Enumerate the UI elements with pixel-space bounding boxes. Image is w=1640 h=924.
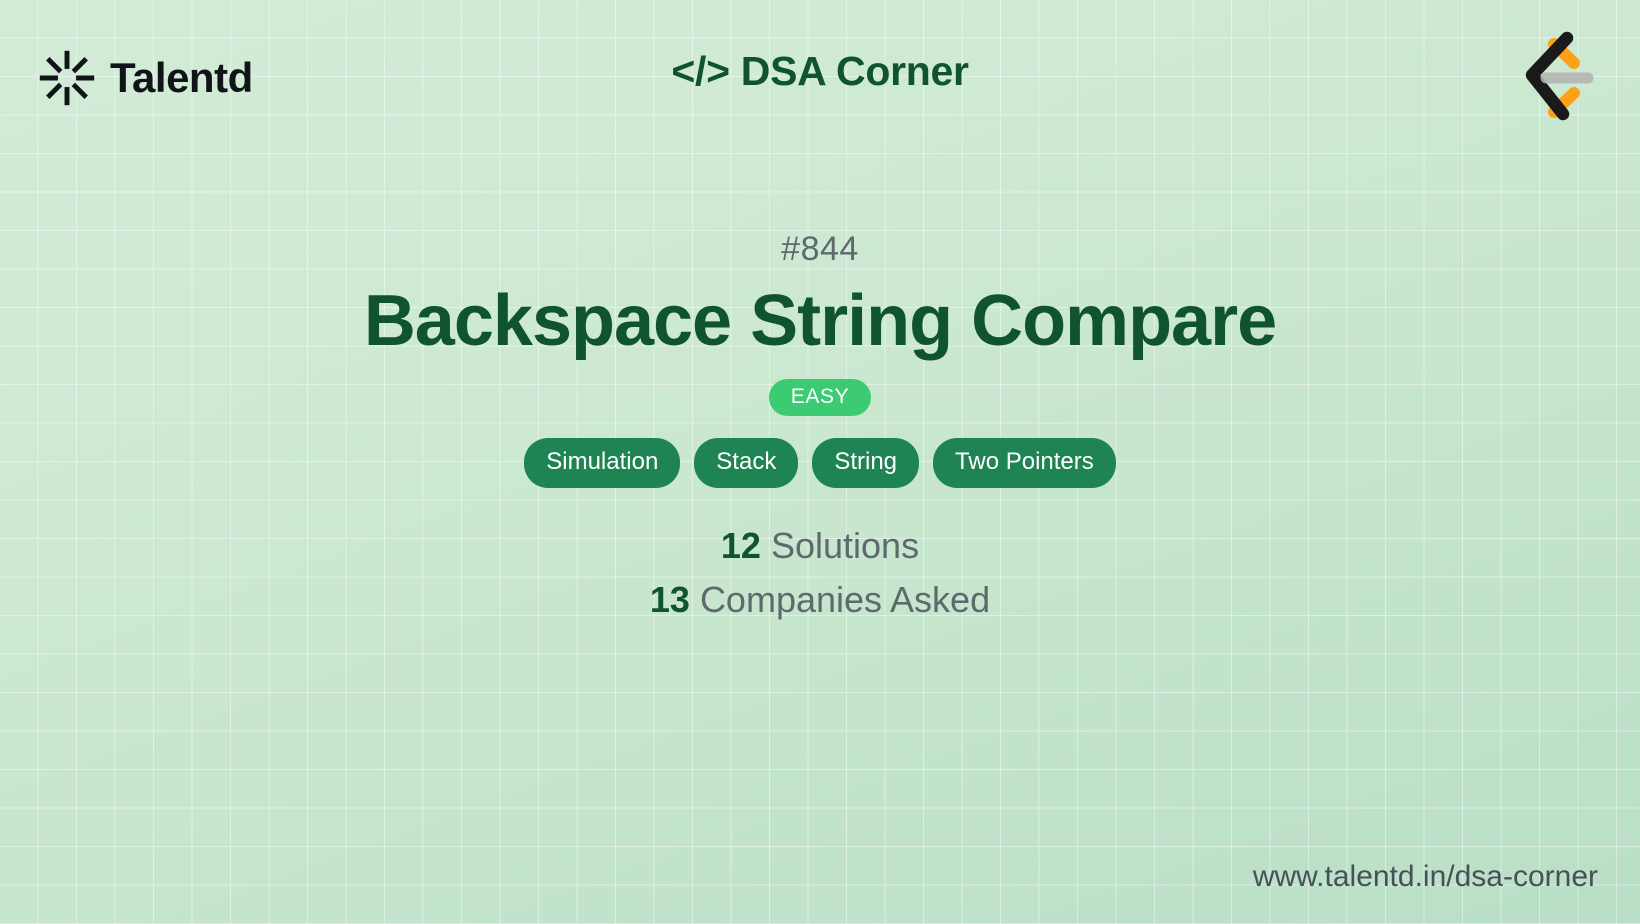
dsa-corner-card: Talentd </> DSA Corner #844 Backspace St… — [0, 0, 1640, 924]
topic-tag[interactable]: Simulation — [524, 438, 680, 488]
stat-companies-asked: 13 Companies Asked — [650, 578, 990, 621]
stat-label: Solutions — [771, 525, 919, 566]
difficulty-badge: EASY — [769, 379, 871, 416]
topic-tag[interactable]: Two Pointers — [933, 438, 1116, 488]
stat-label: Companies Asked — [700, 579, 990, 620]
topic-tag[interactable]: Stack — [694, 438, 798, 488]
stat-solutions: 12 Solutions — [721, 524, 919, 567]
problem-stats: 12 Solutions 13 Companies Asked — [650, 524, 990, 621]
footer-url[interactable]: www.talentd.in/dsa-corner — [1253, 860, 1598, 893]
card-header: Talentd </> DSA Corner — [0, 0, 1640, 155]
problem-number: #844 — [781, 232, 859, 266]
page-title: </> DSA Corner — [0, 48, 1640, 95]
topic-tag-list: Simulation Stack String Two Pointers — [524, 438, 1116, 488]
stat-value: 12 — [721, 525, 761, 566]
topic-tag[interactable]: String — [812, 438, 919, 488]
problem-title: Backspace String Compare — [364, 284, 1276, 359]
stat-value: 13 — [650, 579, 690, 620]
problem-card-body: #844 Backspace String Compare EASY Simul… — [0, 232, 1640, 621]
card-footer: www.talentd.in/dsa-corner — [1253, 862, 1598, 892]
